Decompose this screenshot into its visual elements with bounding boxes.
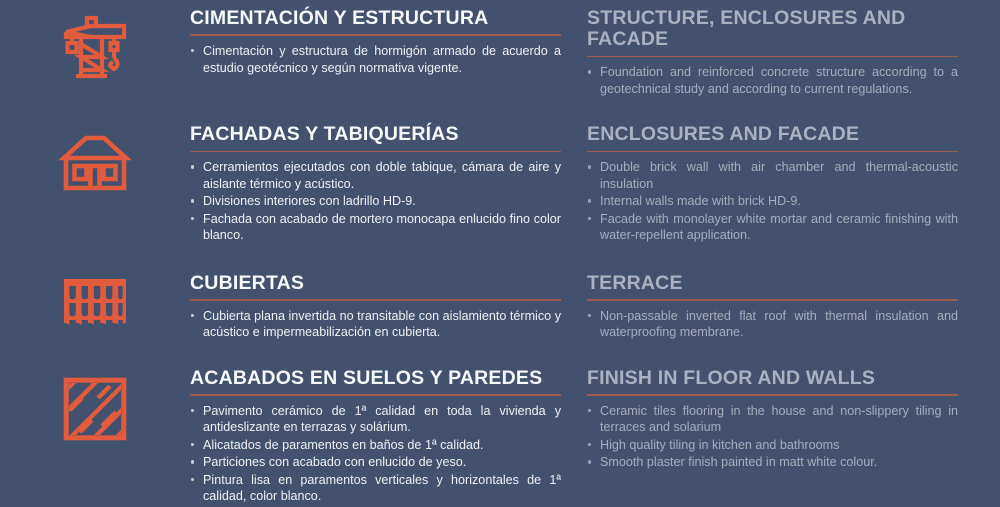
list-item: Pavimento cerámico de 1ª calidad en toda… xyxy=(190,403,561,436)
list-item: Smooth plaster finish painted in matt wh… xyxy=(587,454,958,470)
spec-list-en: Foundation and reinforced concrete struc… xyxy=(587,64,958,97)
section-heading-es: CUBIERTAS xyxy=(190,273,561,299)
spec-list-en: Double brick wall with air chamber and t… xyxy=(587,159,958,243)
list-item: Cerramientos ejecutados con doble tabiqu… xyxy=(190,159,561,192)
list-item: Double brick wall with air chamber and t… xyxy=(587,159,958,192)
list-item: Internal walls made with brick HD-9. xyxy=(587,193,958,209)
heading-divider xyxy=(587,394,958,396)
spec-list-es: Cerramientos ejecutados con doble tabiqu… xyxy=(190,159,561,243)
column-spanish: ACABADOS EN SUELOS Y PAREDES Pavimento c… xyxy=(190,368,561,506)
section-text-columns: FACHADAS Y TABIQUERÍAS Cerramientos ejec… xyxy=(190,124,1000,244)
column-english: STRUCTURE, ENCLOSURES AND FACADE Foundat… xyxy=(587,8,958,98)
heading-divider xyxy=(587,56,958,58)
list-item: Foundation and reinforced concrete struc… xyxy=(587,64,958,97)
spec-list-es: Pavimento cerámico de 1ª calidad en toda… xyxy=(190,403,561,505)
section-heading-es: CIMENTACIÓN Y ESTRUCTURA xyxy=(190,8,561,34)
list-item: Pintura lisa en paramentos verticales y … xyxy=(190,472,561,505)
list-item: Facade with monolayer white mortar and c… xyxy=(587,211,958,244)
section-heading-es: FACHADAS Y TABIQUERÍAS xyxy=(190,124,561,150)
column-spanish: FACHADAS Y TABIQUERÍAS Cerramientos ejec… xyxy=(190,124,561,244)
spec-list-es: Cubierta plana invertida no transitable … xyxy=(190,308,561,341)
section-heading-es: ACABADOS EN SUELOS Y PAREDES xyxy=(190,368,561,394)
list-item: Non-passable inverted flat roof with the… xyxy=(587,308,958,341)
list-item: Ceramic tiles flooring in the house and … xyxy=(587,403,958,436)
column-english: FINISH IN FLOOR AND WALLS Ceramic tiles … xyxy=(587,368,958,506)
spec-section-roofs: CUBIERTAS Cubierta plana invertida no tr… xyxy=(0,273,1000,342)
tower-crane-icon xyxy=(0,8,190,86)
list-item: Cubierta plana invertida no transitable … xyxy=(190,308,561,341)
parquet-floor-icon xyxy=(0,368,190,442)
spec-section-facades: FACHADAS Y TABIQUERÍAS Cerramientos ejec… xyxy=(0,124,1000,244)
column-spanish: CUBIERTAS Cubierta plana invertida no tr… xyxy=(190,273,561,342)
heading-divider xyxy=(190,394,561,396)
heading-divider xyxy=(190,34,561,36)
column-english: ENCLOSURES AND FACADE Double brick wall … xyxy=(587,124,958,244)
section-text-columns: CIMENTACIÓN Y ESTRUCTURA Cimentación y e… xyxy=(190,8,1000,98)
spec-section-foundation: CIMENTACIÓN Y ESTRUCTURA Cimentación y e… xyxy=(0,8,1000,98)
column-spanish: CIMENTACIÓN Y ESTRUCTURA Cimentación y e… xyxy=(190,8,561,98)
section-text-columns: CUBIERTAS Cubierta plana invertida no tr… xyxy=(190,273,1000,342)
heading-divider xyxy=(587,151,958,153)
list-item: Cimentación y estructura de hormigón arm… xyxy=(190,43,561,76)
list-item: Alicatados de paramentos en baños de 1ª … xyxy=(190,437,561,453)
section-heading-en: ENCLOSURES AND FACADE xyxy=(587,124,958,150)
heading-divider xyxy=(190,299,561,301)
spec-section-finishes: ACABADOS EN SUELOS Y PAREDES Pavimento c… xyxy=(0,368,1000,506)
spec-list-en: Ceramic tiles flooring in the house and … xyxy=(587,403,958,471)
section-heading-en: FINISH IN FLOOR AND WALLS xyxy=(587,368,958,394)
list-item: High quality tiling in kitchen and bathr… xyxy=(587,437,958,453)
column-english: TERRACE Non-passable inverted flat roof … xyxy=(587,273,958,342)
heading-divider xyxy=(587,299,958,301)
specifications-sheet: CIMENTACIÓN Y ESTRUCTURA Cimentación y e… xyxy=(0,0,1000,507)
roof-tiles-icon xyxy=(0,273,190,339)
spec-list-en: Non-passable inverted flat roof with the… xyxy=(587,308,958,341)
list-item: Divisiones interiores con ladrillo HD-9. xyxy=(190,193,561,209)
section-heading-en: TERRACE xyxy=(587,273,958,299)
spec-list-es: Cimentación y estructura de hormigón arm… xyxy=(190,43,561,76)
heading-divider xyxy=(190,151,561,153)
list-item: Particiones con acabado con enlucido de … xyxy=(190,454,561,470)
section-text-columns: ACABADOS EN SUELOS Y PAREDES Pavimento c… xyxy=(190,368,1000,506)
section-heading-en: STRUCTURE, ENCLOSURES AND FACADE xyxy=(587,8,958,56)
list-item: Fachada con acabado de mortero monocapa … xyxy=(190,211,561,244)
house-facade-icon xyxy=(0,124,190,194)
